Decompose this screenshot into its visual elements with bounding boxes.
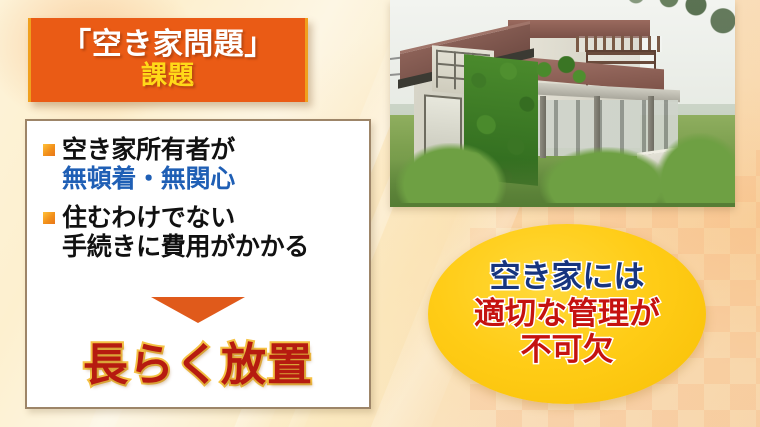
callout-line-3: 不可欠 [521, 332, 614, 369]
down-triangle-arrow-icon [151, 297, 245, 323]
bullet-accent-text: 無頓着・無関心 [62, 164, 235, 193]
conclusion-text: 長らく放置 [27, 328, 369, 393]
title-banner: 「空き家問題」 課題 [28, 18, 308, 102]
bullet-main-text-second-line: 手続きに費用がかかる [62, 232, 309, 261]
list-item: 空き家所有者が 無頓着・無関心 [43, 135, 361, 193]
abandoned-house-photo [390, 0, 735, 207]
square-bullet-icon [43, 212, 55, 224]
bullet-text: 空き家所有者が 無頓着・無関心 [62, 135, 235, 193]
callout-line-2: 適切な管理が [474, 296, 660, 333]
list-item: 住むわけでない 手続きに費用がかかる [43, 203, 361, 261]
bullet-main-text: 空き家所有者が [62, 135, 235, 164]
issues-card: 空き家所有者が 無頓着・無関心 住むわけでない 手続きに費用がかかる 長らく放置 [25, 119, 371, 409]
broadcast-graphic-slide: 「空き家問題」 課題 [0, 0, 760, 427]
bullet-text: 住むわけでない 手続きに費用がかかる [62, 203, 309, 261]
square-bullet-icon [43, 144, 55, 156]
title-primary-text: 「空き家問題」 [61, 29, 275, 61]
photo-bush [655, 133, 735, 203]
photo-bush [396, 143, 506, 203]
title-secondary-text: 課題 [141, 62, 195, 91]
photo-ivy-overgrowth [530, 56, 586, 90]
bullet-main-text: 住むわけでない [62, 203, 309, 232]
issues-bullet-list: 空き家所有者が 無頓着・無関心 住むわけでない 手続きに費用がかかる [43, 135, 361, 271]
callout-line-1: 空き家には [490, 259, 645, 296]
callout-oval: 空き家には 適切な管理が 不可欠 [428, 224, 706, 404]
photo-bush [540, 147, 670, 203]
